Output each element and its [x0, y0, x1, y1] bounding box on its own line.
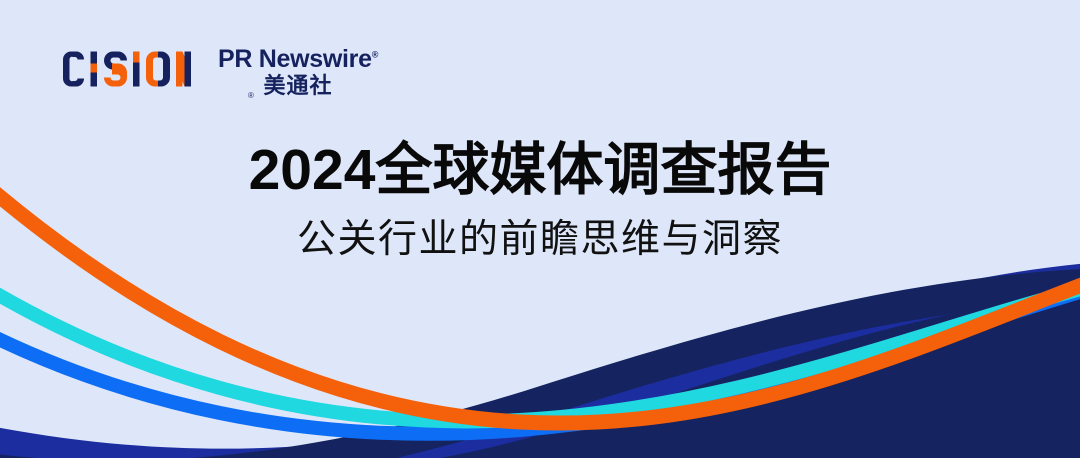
page-subtitle: 公关行业的前瞻思维与洞察 — [0, 218, 1080, 263]
pr-newswire-chinese-name: 美通社 — [218, 73, 378, 98]
cision-logo-icon — [62, 50, 192, 88]
report-cover: ® PR Newswire® 美通社 2024全球媒体调查报告 公关行业的前瞻思… — [0, 0, 1080, 458]
page-title: 2024全球媒体调查报告 — [0, 140, 1080, 202]
pr-newswire-logo[interactable]: PR Newswire® 美通社 — [218, 44, 378, 99]
pr-newswire-text: PR Newswire — [218, 45, 372, 73]
logo-row: ® PR Newswire® 美通社 — [62, 44, 378, 99]
cision-logo-wrapper[interactable]: ® — [62, 44, 192, 88]
pr-newswire-wordmark: PR Newswire® — [218, 46, 378, 72]
pr-newswire-registered-mark: ® — [372, 50, 378, 60]
title-block: 2024全球媒体调查报告 公关行业的前瞻思维与洞察 — [0, 140, 1080, 262]
